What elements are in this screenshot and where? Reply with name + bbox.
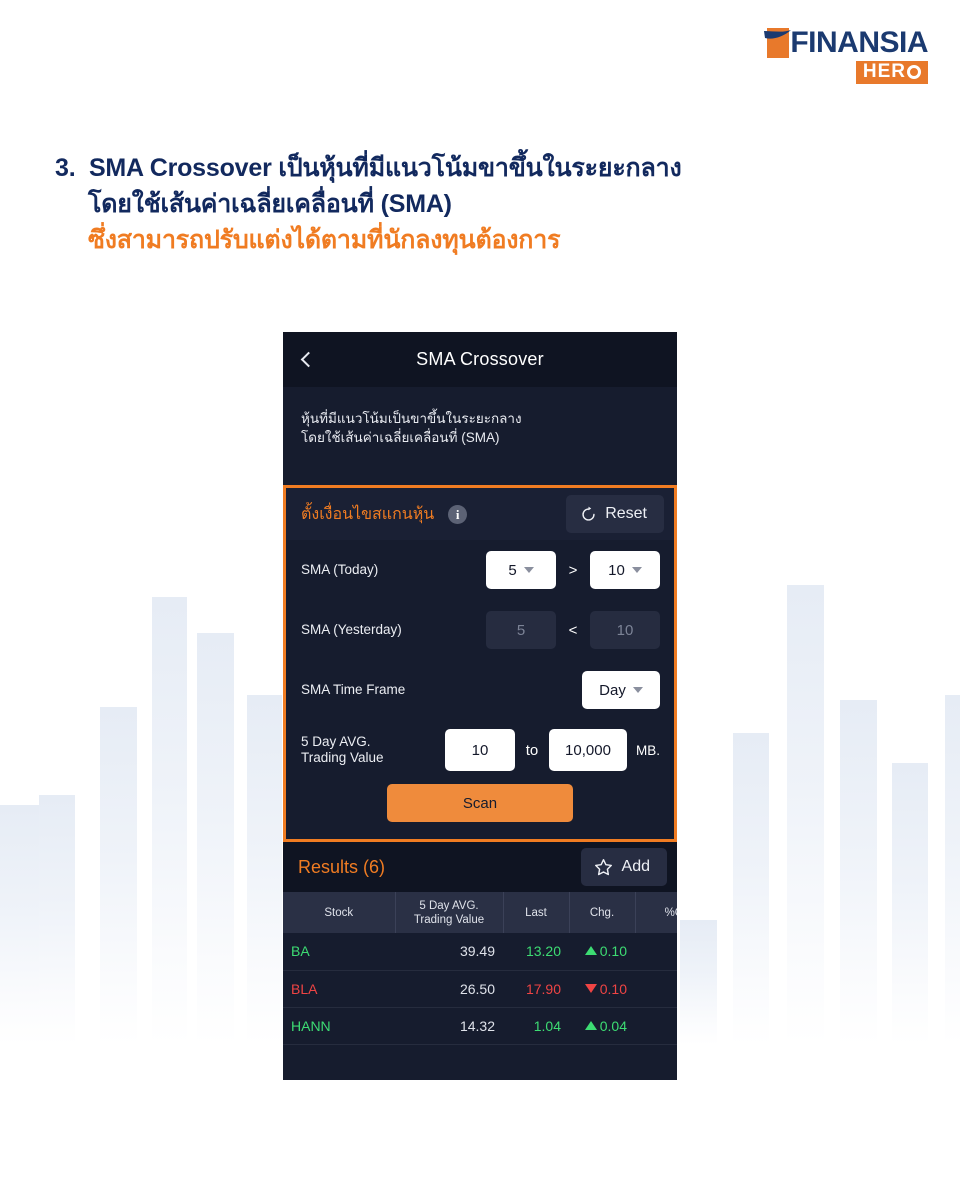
table-header-row: Stock 5 Day AVG. Trading Value Last Chg.… [283, 892, 677, 933]
star-outline-icon [594, 858, 613, 877]
chevron-down-icon [632, 567, 642, 573]
cell-change: 0.10 [569, 933, 635, 970]
row-sma-today: SMA (Today) 5 > 10 [286, 540, 674, 600]
logo-hero-badge: HER [856, 61, 928, 84]
sma-yesterday-value1: 5 [486, 611, 556, 649]
row-sma-yesterday: SMA (Yesterday) 5 < 10 [286, 600, 674, 660]
settings-title: ตั้งเงื่อนไขสแกนหุ้น [301, 502, 434, 527]
sma-today-operator: > [556, 562, 590, 579]
reset-button[interactable]: Reset [566, 495, 664, 533]
table-row[interactable]: HANN14.321.040.044.0 [283, 1007, 677, 1044]
screen-description: หุ้นที่มีแนวโน้มเป็นขาขึ้นในระยะกลาง โดย… [283, 387, 677, 485]
cell-symbol: BA [283, 933, 395, 970]
finansia-hero-logo: FINANSIA HER [767, 28, 928, 84]
arrow-up-icon [585, 1021, 597, 1030]
sma-yesterday-label: SMA (Yesterday) [301, 622, 402, 638]
info-icon[interactable]: i [448, 505, 467, 524]
chevron-down-icon [524, 567, 534, 573]
trading-value-unit: MB. [636, 743, 660, 758]
background-bar-8 [787, 585, 824, 1045]
logo-hero-o [907, 65, 921, 79]
sma-yesterday-value2: 10 [590, 611, 660, 649]
col-header-avg-line2: Trading Value [414, 914, 484, 926]
cell-avg-trading-value: 39.49 [395, 933, 503, 970]
sma-today-value1-dropdown[interactable]: 5 [486, 551, 556, 589]
page-title: 3. SMA Crossover เป็นหุ้นที่มีแนวโน้มขาข… [55, 150, 755, 258]
scan-settings-panel: ตั้งเงื่อนไขสแกนหุ้น i Reset SMA (Today)… [283, 485, 677, 842]
reset-button-label: Reset [605, 505, 647, 523]
trading-value-label: 5 Day AVG. Trading Value [301, 734, 384, 766]
logo-f-mark [767, 28, 789, 58]
logo-wordmark: FINANSIA [790, 28, 928, 58]
sma-today-value1: 5 [508, 562, 516, 579]
logo-primary-row: FINANSIA [767, 28, 928, 58]
background-bar-1 [39, 795, 75, 1045]
background-bar-10 [892, 763, 928, 1045]
logo-swoosh-icon [763, 29, 793, 43]
cell-symbol: HANN [283, 1007, 395, 1044]
arrow-down-icon [585, 984, 597, 993]
heading-line1-th: เป็นหุ้นที่มีแนวโน้มขาขึ้นในระยะกลาง [272, 154, 682, 182]
page-root: FINANSIA HER 3. SMA Crossover เป็นหุ้นที… [0, 0, 960, 1200]
cell-symbol: BLA [283, 970, 395, 1007]
background-bar-11 [945, 695, 960, 1045]
app-navbar: SMA Crossover [283, 332, 677, 387]
cell-percent-change: 0.7 [635, 933, 677, 970]
col-header-avg-line1: 5 Day AVG. [419, 900, 478, 912]
heading-line1-en: SMA Crossover [89, 154, 272, 182]
cell-last: 1.04 [503, 1007, 569, 1044]
results-table-body: BA39.4913.200.100.7BLA26.5017.900.100.5H… [283, 933, 677, 1044]
cell-change: 0.04 [569, 1007, 635, 1044]
app-screen: SMA Crossover หุ้นที่มีแนวโน้มเป็นขาขึ้น… [283, 332, 677, 1080]
sma-today-value2-dropdown[interactable]: 10 [590, 551, 660, 589]
background-bar-2 [100, 707, 137, 1045]
logo-hero-letters: HER [863, 61, 906, 82]
heading-line-2: โดยใช้เส้นค่าเฉลี่ยเคลื่อนที่ (SMA) [55, 186, 755, 222]
col-header-pct-chg[interactable]: %Chg [635, 892, 677, 933]
table-bottom-filler [283, 1045, 677, 1067]
change-value: 0.04 [600, 1018, 627, 1034]
sma-yesterday-operator: < [556, 622, 590, 639]
screen-title: SMA Crossover [283, 349, 677, 370]
description-line-1: หุ้นที่มีแนวโน้มเป็นขาขึ้นในระยะกลาง [301, 409, 659, 428]
cell-avg-trading-value: 26.50 [395, 970, 503, 1007]
sma-time-frame-value: Day [599, 682, 626, 699]
heading-line-3: ซึ่งสามารถปรับแต่งได้ตามที่นักลงทุนต้องก… [55, 222, 755, 258]
scan-button-wrap: Scan [286, 780, 674, 822]
description-line-2: โดยใช้เส้นค่าเฉลี่ยเคลื่อนที่ (SMA) [301, 428, 659, 447]
background-bar-5 [247, 695, 282, 1045]
arrow-up-icon [585, 946, 597, 955]
logo-sub-row: HER [767, 58, 928, 84]
table-row[interactable]: BLA26.5017.900.100.5 [283, 970, 677, 1007]
col-header-stock[interactable]: Stock [283, 892, 395, 933]
add-to-watchlist-button[interactable]: Add [581, 848, 667, 886]
row-trading-value: 5 Day AVG. Trading Value 10 to 10,000 MB… [286, 720, 674, 780]
scan-button[interactable]: Scan [387, 784, 573, 822]
table-row[interactable]: BA39.4913.200.100.7 [283, 933, 677, 970]
results-title: Results (6) [298, 857, 385, 878]
col-header-last[interactable]: Last [503, 892, 569, 933]
heading-number: 3. [55, 150, 75, 186]
cell-change: 0.10 [569, 970, 635, 1007]
background-bar-4 [197, 633, 234, 1045]
cell-avg-trading-value: 14.32 [395, 1007, 503, 1044]
sma-time-frame-dropdown[interactable]: Day [582, 671, 660, 709]
cell-percent-change: 0.5 [635, 970, 677, 1007]
add-button-label: Add [622, 858, 650, 876]
col-header-chg[interactable]: Chg. [569, 892, 635, 933]
background-bar-6 [680, 920, 717, 1045]
chevron-down-icon [633, 687, 643, 693]
settings-header: ตั้งเงื่อนไขสแกนหุ้น i Reset [286, 488, 674, 540]
background-bar-9 [840, 700, 877, 1045]
change-value: 0.10 [600, 943, 627, 959]
reset-circular-arrow-icon [580, 506, 597, 523]
background-bar-3 [152, 597, 187, 1045]
row-sma-time-frame: SMA Time Frame Day [286, 660, 674, 720]
cell-last: 13.20 [503, 933, 569, 970]
col-header-avg-trading-value[interactable]: 5 Day AVG. Trading Value [395, 892, 503, 933]
sma-time-frame-label: SMA Time Frame [301, 682, 405, 698]
heading-line-1: 3. SMA Crossover เป็นหุ้นที่มีแนวโน้มขาข… [55, 150, 755, 186]
trading-value-from-input[interactable]: 10 [445, 729, 515, 771]
sma-today-value2: 10 [608, 562, 625, 579]
sma-today-label: SMA (Today) [301, 562, 378, 578]
trading-value-label-line2: Trading Value [301, 750, 384, 765]
trading-value-label-line1: 5 Day AVG. [301, 734, 371, 749]
change-value: 0.10 [600, 981, 627, 997]
results-table: Stock 5 Day AVG. Trading Value Last Chg.… [283, 892, 677, 1045]
background-bar-7 [733, 733, 769, 1045]
trading-value-to-input[interactable]: 10,000 [549, 729, 627, 771]
cell-last: 17.90 [503, 970, 569, 1007]
background-bar-0 [0, 805, 60, 1045]
results-header: Results (6) Add [283, 842, 677, 892]
cell-percent-change: 4.0 [635, 1007, 677, 1044]
trading-value-to-label: to [515, 742, 549, 759]
